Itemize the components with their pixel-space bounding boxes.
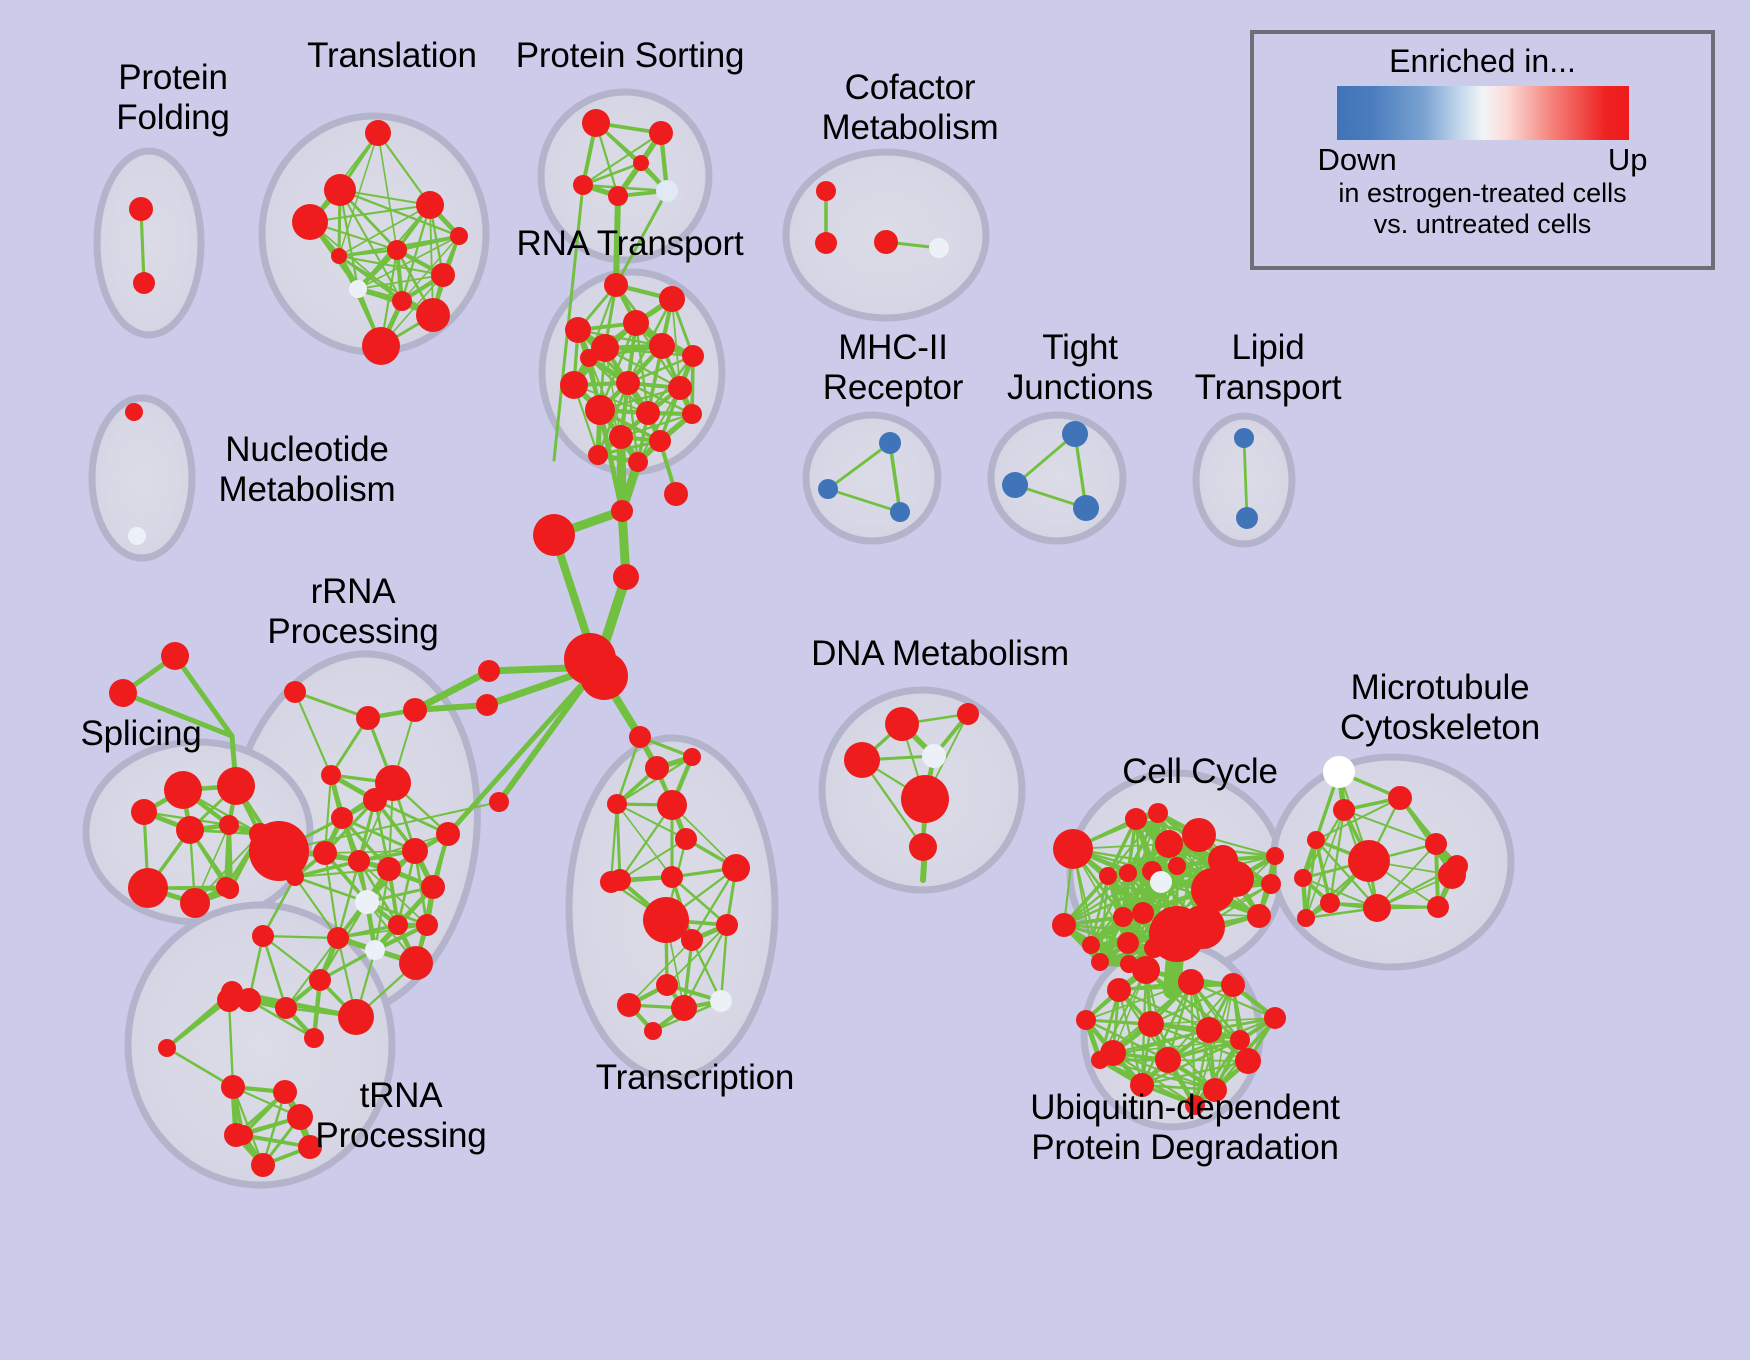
network-node-cell-cycle[interactable] <box>1266 847 1284 865</box>
network-node-microtubule-cytoskeleton[interactable] <box>1297 909 1315 927</box>
network-node-rrna-processing[interactable] <box>313 841 337 865</box>
network-node-cell-cycle[interactable] <box>1155 830 1183 858</box>
network-node-trna-processing[interactable] <box>251 1153 275 1177</box>
network-node-tight-junctions[interactable] <box>1073 495 1099 521</box>
network-node-rrna-processing[interactable] <box>416 914 438 936</box>
network-node-rna-transport[interactable] <box>616 371 640 395</box>
cluster-label-translation: Translation <box>282 36 502 76</box>
legend-low-label: Down <box>1318 142 1397 178</box>
network-node-ubiquitin-protein-degradation[interactable] <box>1221 973 1245 997</box>
network-node-translation[interactable] <box>331 248 347 264</box>
network-node-cell-cycle[interactable] <box>1182 818 1216 852</box>
network-node-rrna-processing[interactable] <box>375 765 411 801</box>
network-node-microtubule-cytoskeleton[interactable] <box>1388 786 1412 810</box>
network-node-protein-sorting[interactable] <box>656 180 678 202</box>
network-node-rrna-processing[interactable] <box>356 706 380 730</box>
network-node-cell-cycle[interactable] <box>1091 953 1109 971</box>
network-node-protein-sorting[interactable] <box>582 109 610 137</box>
cluster-label-mhc-ii-receptor: MHC-II Receptor <box>798 328 988 408</box>
network-node-rrna-processing[interactable] <box>338 999 374 1035</box>
network-node-ubiquitin-protein-degradation[interactable] <box>1107 978 1131 1002</box>
network-node-splicing[interactable] <box>128 868 168 908</box>
network-node-cell-cycle[interactable] <box>1218 861 1254 897</box>
network-node-rna-transport[interactable] <box>588 445 608 465</box>
network-node-translation[interactable] <box>324 174 356 206</box>
network-node-transcription[interactable] <box>617 993 641 1017</box>
network-node-translation[interactable] <box>292 204 328 240</box>
network-node-transcription[interactable] <box>643 897 689 943</box>
network-node-dna-metabolism[interactable] <box>909 833 937 861</box>
network-node-rna-transport[interactable] <box>623 310 649 336</box>
network-node-splicing[interactable] <box>131 799 157 825</box>
network-node-trna-processing[interactable] <box>221 1075 245 1099</box>
network-node-transcription[interactable] <box>675 828 697 850</box>
network-node-cell-cycle[interactable] <box>1261 874 1281 894</box>
network-node-transcription-bridge[interactable] <box>533 514 575 556</box>
network-node-mhc-ii-receptor[interactable] <box>818 479 838 499</box>
network-node-rrna-processing[interactable] <box>309 969 331 991</box>
network-node-transcription-bridge[interactable] <box>613 564 639 590</box>
network-node-ubiquitin-protein-degradation[interactable] <box>1264 1007 1286 1029</box>
network-node-ubiquitin-protein-degradation[interactable] <box>1076 1010 1096 1030</box>
network-node-translation[interactable] <box>362 327 400 365</box>
network-node-cell-cycle[interactable] <box>1052 913 1076 937</box>
network-node-transcription-bridge[interactable] <box>664 482 688 506</box>
legend-color-gradient <box>1337 86 1629 140</box>
network-node-rrna-processing[interactable] <box>327 927 349 949</box>
network-node-ubiquitin-protein-degradation[interactable] <box>1155 1047 1181 1073</box>
network-node-nucleotide-metabolism[interactable] <box>128 527 146 545</box>
network-node-nucleotide-metabolism[interactable] <box>125 403 143 421</box>
network-node-rrna-processing[interactable] <box>355 890 379 914</box>
network-node-microtubule-cytoskeleton[interactable] <box>1348 840 1390 882</box>
network-node-trna-processing[interactable] <box>158 1039 176 1057</box>
network-node-splicing[interactable] <box>176 816 204 844</box>
legend-caption-line-2: vs. untreated cells <box>1374 209 1592 240</box>
network-node-transcription[interactable] <box>657 790 687 820</box>
network-node-splicing[interactable] <box>219 815 239 835</box>
cluster-label-cofactor-metabolism: Cofactor Metabolism <box>790 68 1030 148</box>
network-node-dna-metabolism[interactable] <box>885 707 919 741</box>
network-node-protein-folding[interactable] <box>133 272 155 294</box>
network-node-transcription-bridge[interactable] <box>580 652 628 700</box>
cluster-label-nucleotide-metabolism: Nucleotide Metabolism <box>192 430 422 510</box>
network-node-dna-metabolism[interactable] <box>957 703 979 725</box>
network-node-lipid-transport[interactable] <box>1234 428 1254 448</box>
network-node-translation[interactable] <box>387 240 407 260</box>
network-node-cell-cycle[interactable] <box>1053 829 1093 869</box>
network-node-ubiquitin-protein-degradation[interactable] <box>1091 1051 1109 1069</box>
network-node-transcription-bridge[interactable] <box>478 660 500 682</box>
network-node-translation[interactable] <box>392 291 412 311</box>
network-node-transcription[interactable] <box>671 995 697 1021</box>
network-node-rrna-processing[interactable] <box>377 857 401 881</box>
cluster-hull-protein-folding <box>97 151 201 335</box>
network-node-translation[interactable] <box>416 298 450 332</box>
network-node-transcription-bridge[interactable] <box>611 500 633 522</box>
network-node-ubiquitin-protein-degradation[interactable] <box>1178 969 1204 995</box>
network-node-transcription[interactable] <box>607 794 627 814</box>
network-node-cell-cycle[interactable] <box>1181 905 1225 949</box>
network-node-splicing[interactable] <box>164 771 202 809</box>
network-node-rrna-processing[interactable] <box>399 946 433 980</box>
network-node-rna-transport[interactable] <box>659 286 685 312</box>
network-node-transcription[interactable] <box>656 974 678 996</box>
network-node-translation[interactable] <box>365 120 391 146</box>
network-node-rrna-processing[interactable] <box>402 838 428 864</box>
cluster-label-transcription: Transcription <box>570 1058 820 1098</box>
network-node-protein-sorting[interactable] <box>633 155 649 171</box>
network-node-transcription[interactable] <box>661 866 683 888</box>
network-node-cell-cycle[interactable] <box>1168 857 1186 875</box>
network-node-translation[interactable] <box>349 280 367 298</box>
network-node-rna-transport[interactable] <box>585 395 615 425</box>
cluster-label-ubiquitin-protein-degradation: Ubiquitin-dependent Protein Degradation <box>985 1088 1385 1168</box>
network-node-transcription[interactable] <box>710 990 732 1012</box>
network-node-trna-processing[interactable] <box>273 1080 297 1104</box>
network-node-mhc-ii-receptor[interactable] <box>879 432 901 454</box>
network-node-cofactor-metabolism[interactable] <box>929 238 949 258</box>
network-node-cell-cycle[interactable] <box>1148 803 1168 823</box>
network-node-transcription[interactable] <box>716 914 738 936</box>
cluster-label-protein-folding: Protein Folding <box>78 58 268 138</box>
network-node-tight-junctions[interactable] <box>1062 421 1088 447</box>
network-node-transcription[interactable] <box>644 1022 662 1040</box>
network-node-dna-metabolism[interactable] <box>901 775 949 823</box>
network-node-cell-cycle[interactable] <box>1117 932 1139 954</box>
network-node-rrna-processing[interactable] <box>284 681 306 703</box>
network-node-transcription-bridge[interactable] <box>476 694 498 716</box>
network-node-splicing[interactable] <box>217 767 255 805</box>
network-node-cell-cycle[interactable] <box>1247 904 1271 928</box>
network-node-ubiquitin-protein-degradation[interactable] <box>1230 1030 1250 1050</box>
cluster-label-rrna-processing: rRNA Processing <box>248 572 458 652</box>
network-node-splicing[interactable] <box>161 642 189 670</box>
cluster-label-rna-transport: RNA Transport <box>500 224 760 264</box>
network-node-splicing[interactable] <box>223 881 239 897</box>
network-node-rrna-processing[interactable] <box>365 940 385 960</box>
network-node-ubiquitin-protein-degradation[interactable] <box>1138 1011 1164 1037</box>
network-node-rna-transport[interactable] <box>649 333 675 359</box>
cluster-label-splicing: Splicing <box>56 714 226 754</box>
network-node-rrna-processing[interactable] <box>304 1028 324 1048</box>
network-node-tight-junctions[interactable] <box>1002 472 1028 498</box>
network-node-rna-transport[interactable] <box>580 349 598 367</box>
network-node-rrna-processing[interactable] <box>436 822 460 846</box>
network-node-translation[interactable] <box>450 227 468 245</box>
network-node-microtubule-cytoskeleton[interactable] <box>1307 831 1325 849</box>
network-node-microtubule-cytoskeleton[interactable] <box>1294 869 1312 887</box>
legend-endpoint-labels: Down Up <box>1318 142 1648 178</box>
cluster-hull-mhc-ii-receptor <box>806 415 938 541</box>
network-node-microtubule-cytoskeleton[interactable] <box>1333 799 1355 821</box>
cluster-label-tight-junctions: Tight Junctions <box>990 328 1170 408</box>
cluster-label-trna-processing: tRNA Processing <box>296 1076 506 1156</box>
network-node-microtubule-cytoskeleton[interactable] <box>1425 833 1447 855</box>
network-node-cofactor-metabolism[interactable] <box>874 230 898 254</box>
network-node-cell-cycle[interactable] <box>1150 871 1172 893</box>
network-node-lipid-transport[interactable] <box>1236 507 1258 529</box>
network-node-rrna-processing[interactable] <box>331 807 353 829</box>
network-node-ubiquitin-protein-degradation[interactable] <box>1132 956 1160 984</box>
cluster-label-cell-cycle: Cell Cycle <box>1100 752 1300 792</box>
network-node-trna-processing[interactable] <box>233 1125 253 1145</box>
network-node-translation[interactable] <box>416 191 444 219</box>
cluster-label-protein-sorting: Protein Sorting <box>500 36 760 76</box>
network-node-rna-transport[interactable] <box>649 430 671 452</box>
network-node-rrna-processing[interactable] <box>388 915 408 935</box>
network-node-transcription[interactable] <box>683 748 701 766</box>
network-node-cofactor-metabolism[interactable] <box>815 232 837 254</box>
legend-high-label: Up <box>1608 142 1648 178</box>
network-node-translation[interactable] <box>431 263 455 287</box>
network-node-rna-transport[interactable] <box>636 401 660 425</box>
network-node-rrna-processing[interactable] <box>321 765 341 785</box>
network-node-protein-folding[interactable] <box>129 197 153 221</box>
legend-panel: Enriched in... Down Up in estrogen-treat… <box>1250 30 1715 270</box>
network-node-cell-cycle[interactable] <box>1082 936 1100 954</box>
network-node-ubiquitin-protein-degradation[interactable] <box>1196 1017 1222 1043</box>
network-node-cell-cycle[interactable] <box>1125 808 1147 830</box>
network-node-trna-processing[interactable] <box>217 988 241 1012</box>
network-node-transcription[interactable] <box>609 869 631 891</box>
network-node-rna-transport[interactable] <box>682 404 702 424</box>
network-node-rna-transport[interactable] <box>565 317 591 343</box>
cluster-label-microtubule-cytoskeleton: Microtubule Cytoskeleton <box>1300 668 1580 748</box>
network-node-cell-cycle[interactable] <box>1099 867 1117 885</box>
network-node-rna-transport[interactable] <box>682 345 704 367</box>
network-node-rrna-processing[interactable] <box>403 698 427 722</box>
network-node-rrna-processing[interactable] <box>286 868 304 886</box>
network-node-rna-transport[interactable] <box>609 425 633 449</box>
network-node-rna-transport[interactable] <box>560 371 588 399</box>
network-node-microtubule-cytoskeleton[interactable] <box>1320 893 1340 913</box>
network-node-cell-cycle[interactable] <box>1113 907 1133 927</box>
legend-caption-line-1: in estrogen-treated cells <box>1338 178 1626 209</box>
enrichment-map-figure: Protein FoldingTranslationProtein Sortin… <box>0 0 1750 1360</box>
network-node-protein-sorting[interactable] <box>608 186 628 206</box>
network-node-microtubule-cytoskeleton[interactable] <box>1363 894 1391 922</box>
network-node-rna-transport[interactable] <box>604 273 628 297</box>
network-node-transcription[interactable] <box>722 854 750 882</box>
network-node-mhc-ii-receptor[interactable] <box>890 502 910 522</box>
network-node-rrna-processing[interactable] <box>348 850 370 872</box>
network-node-protein-sorting[interactable] <box>649 121 673 145</box>
network-node-cell-cycle[interactable] <box>1119 864 1137 882</box>
network-node-rna-transport[interactable] <box>628 452 648 472</box>
network-node-rna-transport[interactable] <box>668 376 692 400</box>
network-node-rrna-processing[interactable] <box>252 925 274 947</box>
network-node-cofactor-metabolism[interactable] <box>816 181 836 201</box>
network-node-dna-metabolism[interactable] <box>922 744 946 768</box>
network-node-rrna-processing[interactable] <box>421 875 445 899</box>
cluster-label-dna-metabolism: DNA Metabolism <box>810 634 1070 674</box>
cluster-label-lipid-transport: Lipid Transport <box>1178 328 1358 408</box>
network-node-transcription-bridge[interactable] <box>489 792 509 812</box>
network-node-transcription[interactable] <box>629 726 651 748</box>
network-node-ubiquitin-protein-degradation[interactable] <box>1235 1048 1261 1074</box>
network-node-dna-metabolism[interactable] <box>844 742 880 778</box>
network-node-splicing[interactable] <box>109 679 137 707</box>
network-node-protein-sorting[interactable] <box>573 175 593 195</box>
legend-title: Enriched in... <box>1389 42 1576 80</box>
network-node-splicing[interactable] <box>249 823 271 845</box>
network-node-microtubule-cytoskeleton[interactable] <box>1323 756 1355 788</box>
network-node-transcription[interactable] <box>645 756 669 780</box>
network-node-splicing[interactable] <box>180 888 210 918</box>
network-node-microtubule-cytoskeleton[interactable] <box>1446 855 1468 877</box>
network-node-cell-cycle[interactable] <box>1132 902 1154 924</box>
network-node-rrna-processing[interactable] <box>275 997 297 1019</box>
network-node-microtubule-cytoskeleton[interactable] <box>1427 896 1449 918</box>
